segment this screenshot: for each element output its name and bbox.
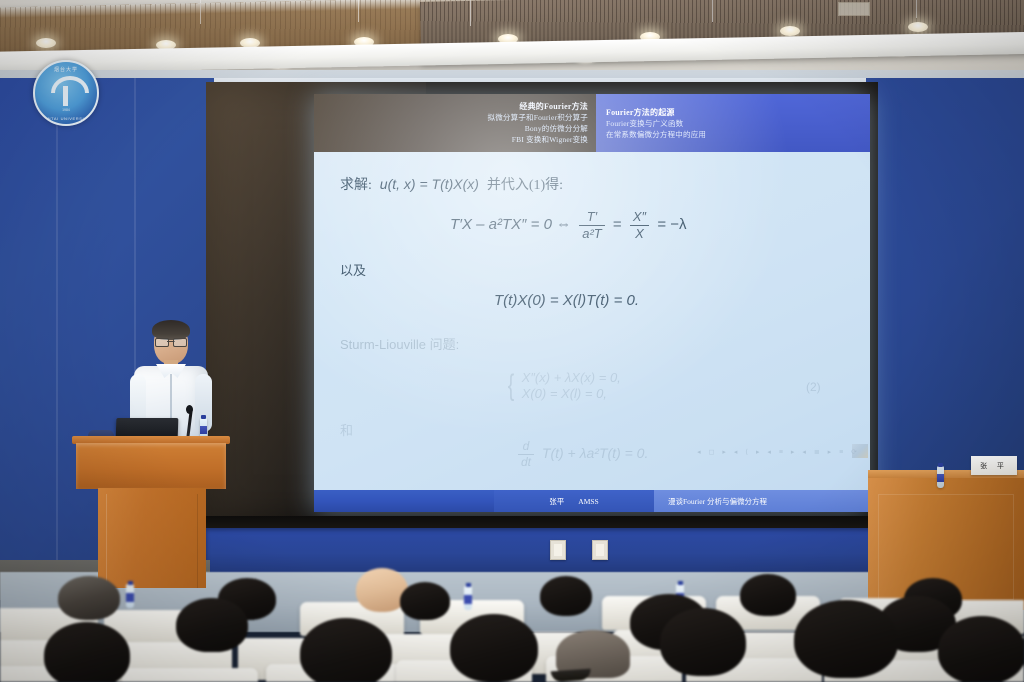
audience-head [740, 574, 796, 616]
eq1-equals: = [613, 216, 622, 233]
solve-math: u(t, x) = T(t)X(x) [376, 176, 483, 192]
slide-footer-author-block: 张平 AMSS [494, 490, 654, 512]
audience-head [450, 614, 538, 682]
slide-footer-title-block: 漫谈Fourier 分析与偏微分方程 [654, 490, 870, 512]
speaker-glasses-icon [155, 338, 187, 345]
ceiling-downlight [908, 22, 928, 32]
eq3-line-b: X(0) = X(l) = 0, [522, 386, 621, 402]
footer-talk-title: 漫谈Fourier 分析与偏微分方程 [668, 496, 767, 507]
ceiling-wire [916, 0, 917, 18]
outline-right-item-2: 在常系数偏微分方程中的应用 [606, 129, 870, 140]
audience-head [176, 598, 248, 652]
slide-header-right-active: Fourier方法的起源 Fourier变换与广义函数 在常系数偏微分方程中的应… [596, 94, 870, 152]
emblem-year: 1984 [35, 108, 97, 112]
ceiling-wire [200, 0, 201, 24]
eq3-line-a: X″(x) + λX(x) = 0, [522, 370, 621, 386]
eq1-frac1-denominator: a²T [579, 226, 605, 241]
eq4-fraction: d dt [518, 440, 534, 468]
eq1-fraction-2: X″ X [630, 210, 649, 240]
audience-head [794, 600, 898, 678]
slide-header-left-outline: 经典的Fourier方法 拟微分算子和Fourier积分算子 Bony的仿微分分… [314, 94, 596, 152]
slide-line-solve: 求解: u(t, x) = T(t)X(x) 并代入(1)得: [340, 174, 563, 194]
audience-baseball-cap [556, 630, 630, 678]
audience-head [400, 582, 450, 620]
projection-screen: 经典的Fourier方法 拟微分算子和Fourier积分算子 Bony的仿微分分… [314, 94, 870, 512]
slide-line-and: 以及 [340, 260, 366, 279]
audience-head [540, 576, 592, 616]
slide-equation-2: T(t)X(0) = X(l)T(t) = 0. [494, 292, 639, 309]
outline-right-title: Fourier方法的起源 [606, 107, 870, 118]
university-emblem: 烟台大学 1984 YANTAI UNIVERSITY [33, 60, 99, 126]
slide-equation-1: T′X – a²TX″ = 0 ⇔ T′ a²T = X″ X = −λ [450, 210, 687, 240]
chair-back [122, 668, 258, 682]
footer-author: 张平 [549, 496, 564, 507]
eq4-frac-denominator: dt [518, 455, 534, 469]
emblem-english-name: YANTAI UNIVERSITY [35, 116, 97, 121]
outline-left-item-1: 拟微分算子和Fourier积分算子 [488, 112, 588, 123]
slide-line-sturm-liouville: Sturm-Liouville 问题: [340, 334, 459, 353]
ceiling-wire [358, 0, 359, 22]
outline-right-item-1: Fourier变换与广义函数 [606, 118, 870, 129]
footer-affiliation: AMSS [578, 497, 598, 506]
audience-head [58, 576, 120, 620]
slide-body: 求解: u(t, x) = T(t)X(x) 并代入(1)得: T′X – a²… [314, 152, 870, 482]
slide-equation-3: { X″(x) + λX(x) = 0, X(0) = X(l) = 0, [506, 370, 621, 402]
eq4-tail: T(t) + λa²T(t) = 0. [542, 445, 648, 461]
name-card-text: 张 平 [980, 461, 1008, 471]
ceiling-wire [470, 0, 471, 26]
wall-panel-right [866, 78, 1024, 508]
eq1-left: T′X – a²TX″ = 0 ⇔ [450, 216, 571, 233]
slide-header: 经典的Fourier方法 拟微分算子和Fourier积分算子 Bony的仿微分分… [314, 94, 870, 152]
ceiling-downlight [780, 26, 800, 36]
wall-switch-plate[interactable] [592, 540, 608, 560]
slide-line-also: 和 [340, 420, 353, 439]
eq1-frac2-numerator: X″ [630, 210, 649, 226]
podium-front-face [76, 443, 226, 489]
microphone-icon [186, 405, 193, 414]
audience-area [0, 560, 1024, 682]
audience-head [938, 616, 1024, 682]
eq1-tail: = −λ [657, 216, 686, 233]
solve-suffix: 并代入(1)得: [487, 178, 563, 193]
lecture-hall-photo: 经典的Fourier方法 拟微分算子和Fourier积分算子 Bony的仿微分分… [0, 0, 1024, 682]
ceiling-downlight [36, 38, 56, 48]
audience-head [44, 622, 130, 682]
slide-equation-3-tag: (2) [806, 380, 821, 394]
ceiling-wire [712, 0, 713, 22]
slide-footer-left-spacer [314, 490, 494, 512]
speaker-hair [152, 320, 190, 340]
outline-left-item-3: FBI 变换和Wigner变换 [512, 134, 588, 145]
system-brace: { [508, 374, 515, 398]
eq1-fraction-1: T′ a²T [579, 210, 605, 240]
name-card: 张 平 [971, 456, 1017, 475]
slide-equation-4: d dt T(t) + λa²T(t) = 0. [514, 440, 648, 468]
ceiling-vent [838, 2, 870, 16]
eq1-frac1-numerator: T′ [579, 210, 605, 226]
outline-left-title: 经典的Fourier方法 [519, 101, 588, 112]
audience-head [660, 608, 746, 676]
solve-prefix: 求解: [340, 178, 372, 193]
emblem-mark-icon [51, 76, 81, 106]
water-bottle-table [937, 466, 944, 488]
water-bottle-seat [126, 584, 134, 608]
outline-left-item-2: Bony的仿微分分解 [525, 123, 588, 134]
eq4-frac-numerator: d [518, 440, 534, 455]
emblem-chinese-name: 烟台大学 [35, 66, 97, 73]
audience-head [300, 618, 392, 682]
eq1-frac2-denominator: X [630, 226, 649, 241]
slide-page-curl [852, 444, 868, 458]
wall-switch-plate[interactable] [550, 540, 566, 560]
slide-footer: 张平 AMSS 漫谈Fourier 分析与偏微分方程 [314, 490, 870, 512]
water-bottle-seat [464, 586, 472, 610]
slide-navigation-arrows[interactable]: ◂ ◻ ▸ ◂ ⟨ ▸ ◂ ≡ ▸ ◂ ≣ ▸ ≡ ⟳ [697, 448, 860, 456]
